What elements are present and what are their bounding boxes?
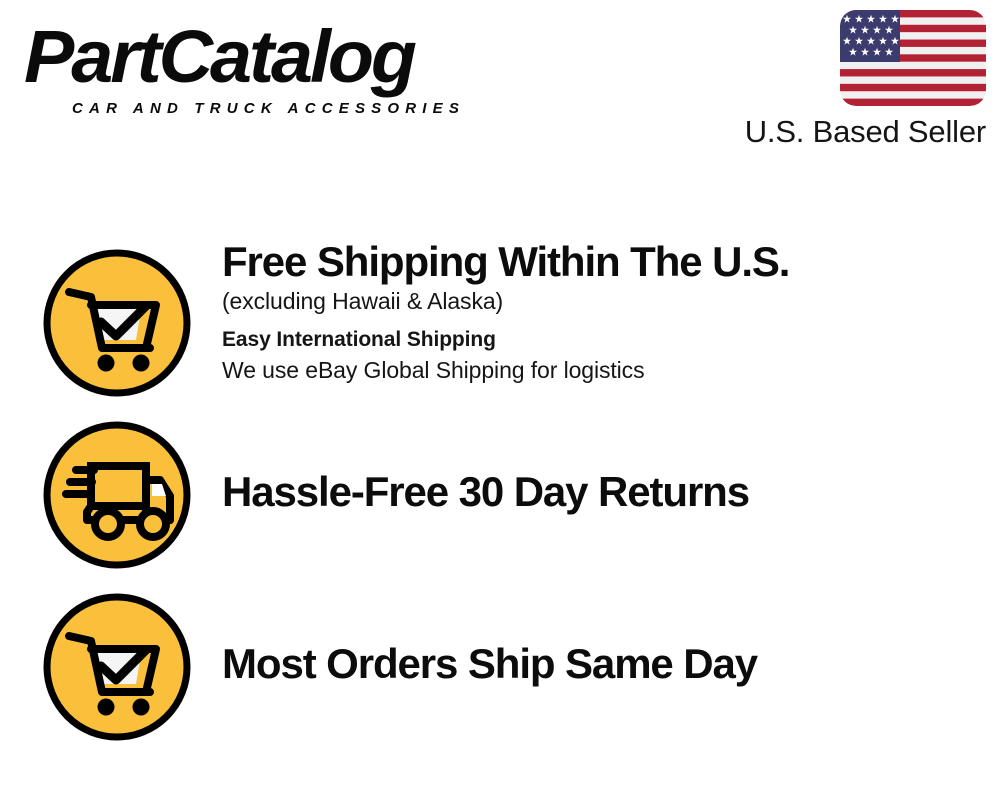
shopping-cart-check-icon xyxy=(42,592,192,742)
shopping-cart-check-icon xyxy=(42,248,192,398)
feature-subtitle: (excluding Hawaii & Alaska) xyxy=(222,286,982,316)
feature-text-block: Most Orders Ship Same Day xyxy=(222,640,982,688)
feature-title: Free Shipping Within The U.S. xyxy=(222,238,982,286)
feature-title: Hassle-Free 30 Day Returns xyxy=(222,468,982,516)
feature-subtitle: We use eBay Global Shipping for logistic… xyxy=(222,355,982,385)
feature-list: Free Shipping Within The U.S. (excluding… xyxy=(0,0,1000,800)
spacer xyxy=(222,316,982,325)
feature-title: Most Orders Ship Same Day xyxy=(222,640,982,688)
feature-text-block: Free Shipping Within The U.S. (excluding… xyxy=(222,238,982,385)
delivery-truck-icon xyxy=(42,420,192,570)
feature-text-block: Hassle-Free 30 Day Returns xyxy=(222,468,982,516)
feature-subtitle-bold: Easy International Shipping xyxy=(222,325,982,355)
